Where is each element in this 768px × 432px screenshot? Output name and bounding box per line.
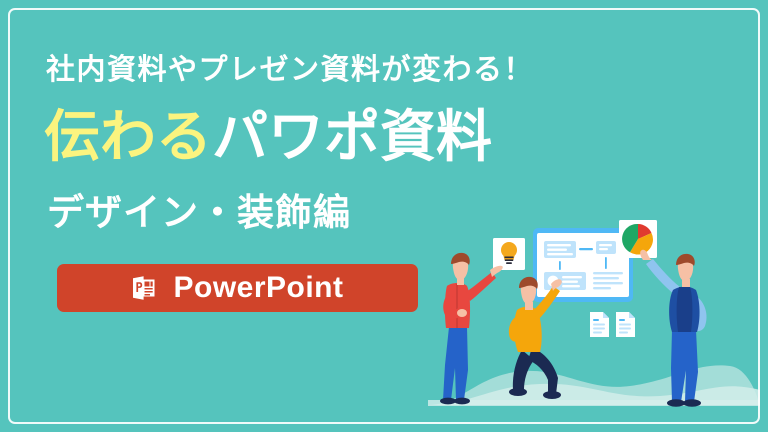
page-title-rest: パワポ資料 [212, 105, 492, 168]
page-title: 伝わるパワポ資料 [44, 108, 464, 167]
text-column: 社内資料やプレゼン資料が変わる！ 伝わるパワポ資料 デザイン・装飾編 Power… [0, 0, 460, 432]
lightbulb-card [493, 238, 525, 270]
document-card-left [590, 312, 609, 337]
page-title-accent: 伝わる [44, 105, 212, 168]
subtitle-section: デザイン・装飾編 [47, 194, 351, 231]
powerpoint-badge[interactable]: PowerPoint [57, 264, 418, 312]
powerpoint-badge-label: PowerPoint [173, 273, 343, 303]
powerpoint-logo-icon [131, 275, 157, 301]
background-hills [428, 365, 760, 406]
subtitle-top: 社内資料やプレゼン資料が変わる！ [46, 56, 436, 85]
powerpoint-course-banner: 社内資料やプレゼン資料が変わる！ 伝わるパワポ資料 デザイン・装飾編 Power… [0, 0, 768, 432]
whiteboard-slide [533, 228, 633, 302]
document-card-right [616, 312, 635, 337]
team-presentation-illustration [420, 200, 768, 432]
pie-chart-card [619, 220, 657, 258]
